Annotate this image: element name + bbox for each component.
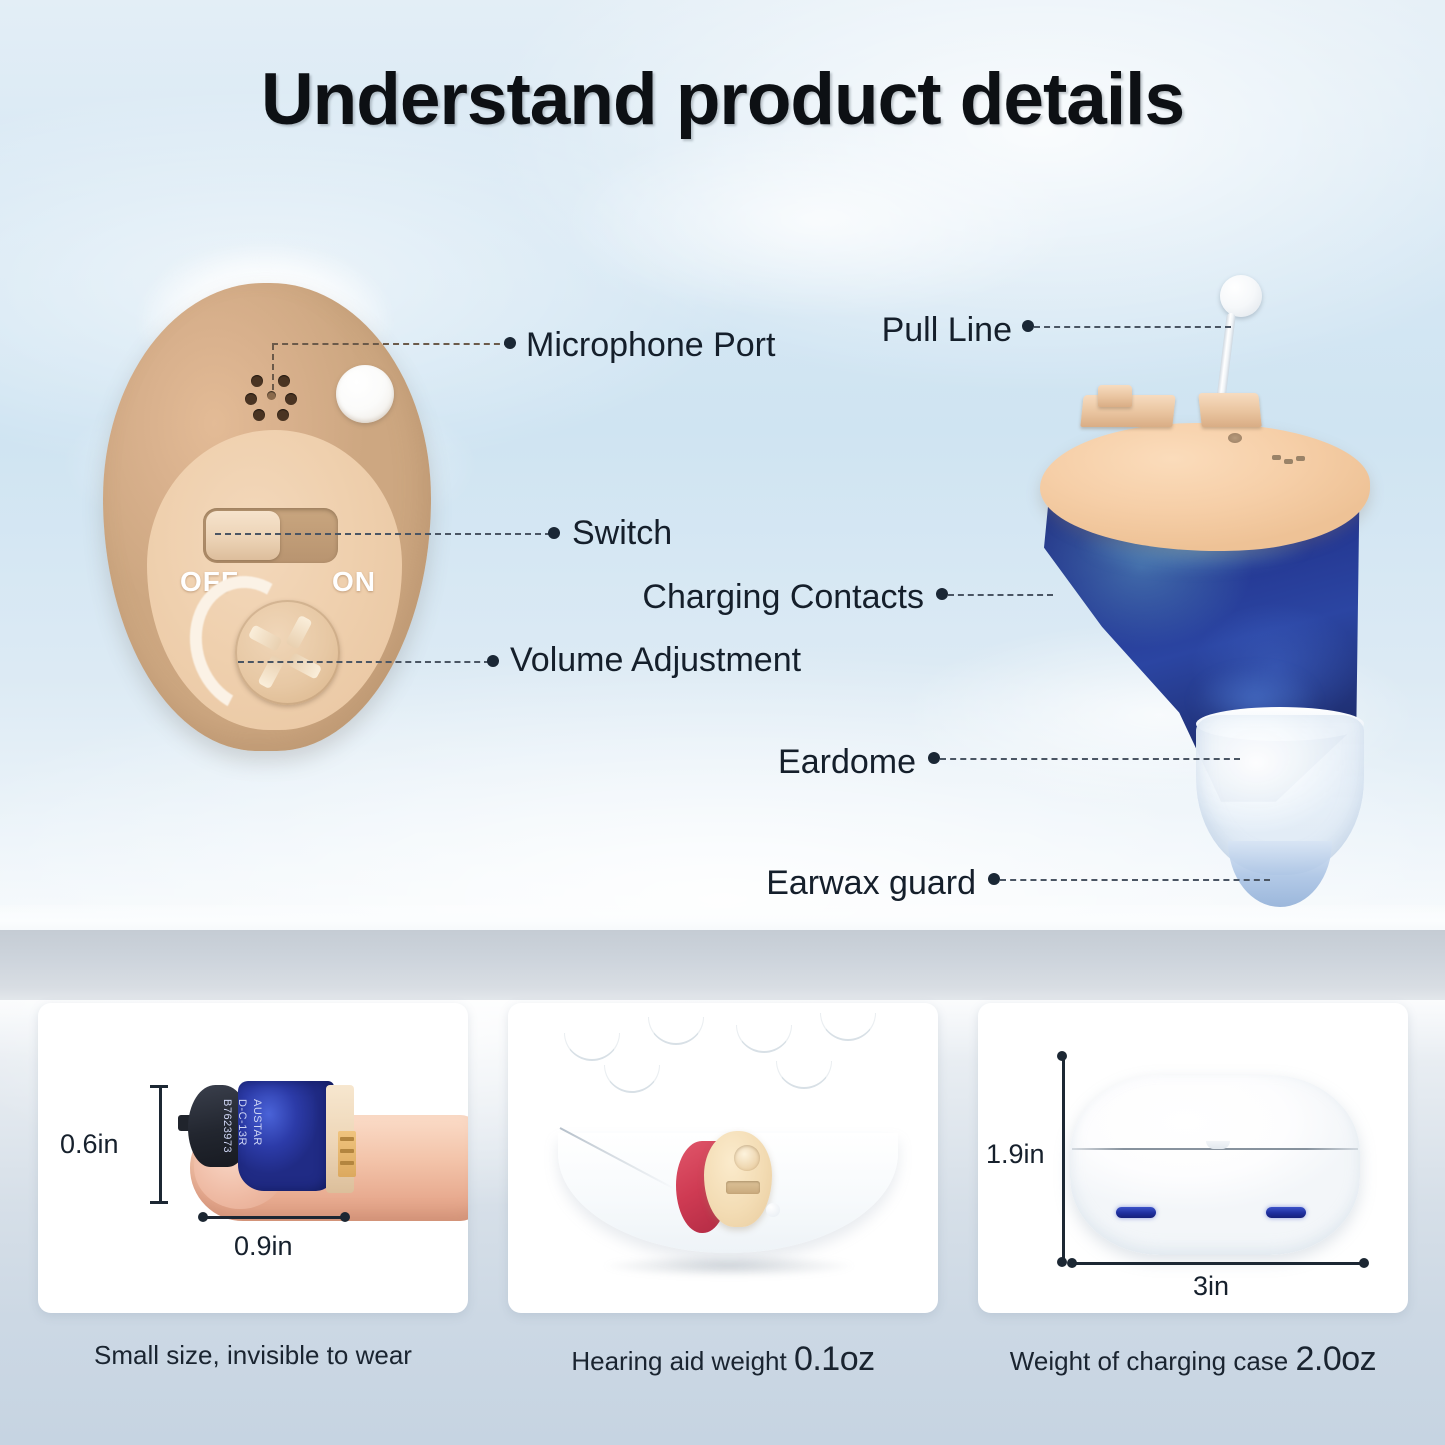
- volume-leader-dot: [487, 655, 499, 667]
- product-marking-line-3: B7623973: [221, 1099, 233, 1153]
- feather-barb: [564, 1033, 620, 1061]
- dimension-cap: [198, 1212, 208, 1222]
- charging-pads: [338, 1131, 356, 1177]
- shelf-edge-band: [0, 930, 1445, 1002]
- width-dimension-line: [1072, 1262, 1364, 1265]
- dimension-cap: [1359, 1258, 1369, 1268]
- callout-eardome: Eardome: [700, 745, 916, 779]
- card-charging-case: 1.9in 3in: [978, 1003, 1408, 1313]
- feather-barb: [736, 1025, 792, 1053]
- page-title: Understand product details: [0, 58, 1445, 141]
- callout-microphone-port: Microphone Port: [526, 328, 775, 362]
- feather-barb: [604, 1065, 660, 1093]
- volume-leader-line: [238, 661, 490, 663]
- dimension-cap: [1067, 1258, 1077, 1268]
- power-switch-control: [203, 508, 338, 563]
- eardome-leader-line: [940, 758, 1240, 760]
- charging-contacts-leader-line: [948, 594, 1053, 596]
- pull-line-ball: [1220, 275, 1262, 317]
- dimension-cap: [1057, 1051, 1067, 1061]
- charging-contacts-leader-dot: [936, 588, 948, 600]
- earwax-guard-leader-line: [1000, 879, 1270, 881]
- feather-barb: [820, 1013, 876, 1041]
- feather-barb: [648, 1017, 704, 1045]
- microphone-leader-dot: [504, 337, 516, 349]
- charging-led-indicator: [1116, 1207, 1156, 1218]
- feather-barb: [776, 1061, 832, 1089]
- product-details-infographic: Understand product details OFF ON: [0, 0, 1445, 1445]
- earwax-guard-leader-dot: [988, 873, 1000, 885]
- charging-contact: [1098, 385, 1132, 407]
- dimension-cap: [150, 1201, 168, 1204]
- charging-case-illustration: [1070, 1075, 1360, 1255]
- product-marking-line-2: D-C-13R: [236, 1099, 248, 1146]
- callout-volume-adjustment: Volume Adjustment: [510, 643, 801, 677]
- status-marking: [1272, 455, 1306, 469]
- switch-leader-dot: [548, 527, 560, 539]
- card-hearing-aid-weight: [508, 1003, 938, 1313]
- feather-shadow: [604, 1255, 854, 1277]
- width-dimension-line: [203, 1216, 346, 1219]
- switch-slot: [726, 1181, 760, 1194]
- callout-earwax-guard: Earwax guard: [660, 866, 976, 900]
- pull-line-leader-line: [1034, 326, 1231, 328]
- hearing-aid-faceplate-illustration: OFF ON: [95, 255, 440, 755]
- card-caption-charging-case: Weight of charging case 2.0oz: [978, 1340, 1408, 1379]
- height-dimension-line: [1062, 1055, 1065, 1261]
- height-dimension-label: 1.9in: [986, 1139, 1045, 1170]
- card-caption-small-size: Small size, invisible to wear: [38, 1340, 468, 1371]
- dimension-cap: [340, 1212, 350, 1222]
- caption-value: 0.1oz: [794, 1340, 875, 1378]
- microphone-leader-vertical: [272, 344, 274, 390]
- microphone-port-icon: [734, 1145, 760, 1171]
- caption-value: 2.0oz: [1296, 1340, 1377, 1378]
- pull-line-leader-dot: [1022, 320, 1034, 332]
- callout-switch: Switch: [572, 516, 672, 550]
- caption-text: Weight of charging case: [1010, 1346, 1288, 1376]
- product-marking: AUSTAR D-C-13R B7623973: [219, 1099, 264, 1153]
- faceplate-button: [336, 365, 394, 423]
- charging-contact: [1198, 393, 1262, 427]
- card-caption-hearing-aid-weight: Hearing aid weight 0.1oz: [508, 1340, 938, 1379]
- caption-text: Small size, invisible to wear: [94, 1340, 412, 1370]
- callout-charging-contacts: Charging Contacts: [600, 580, 924, 614]
- callout-pull-line: Pull Line: [800, 313, 1012, 347]
- faceplate-cap: [1040, 423, 1370, 551]
- dimension-cap: [150, 1085, 168, 1088]
- product-marking-line-1: AUSTAR: [251, 1099, 263, 1146]
- highlight-bead: [766, 1203, 780, 1217]
- volume-adjustment-wheel: [235, 600, 340, 705]
- dimension-cap: [1057, 1257, 1067, 1267]
- card-small-size: AUSTAR D-C-13R B7623973 0.6in 0.9in: [38, 1003, 468, 1313]
- hearing-aid-3d-illustration: [1020, 275, 1390, 895]
- caption-text: Hearing aid weight: [571, 1346, 786, 1376]
- charging-led-indicator: [1266, 1207, 1306, 1218]
- eardome-leader-dot: [928, 752, 940, 764]
- height-dimension-label: 0.6in: [60, 1129, 119, 1160]
- height-dimension-line: [159, 1085, 162, 1201]
- switch-on-label: ON: [332, 566, 376, 598]
- microphone-leader-horizontal: [272, 343, 510, 345]
- width-dimension-label: 0.9in: [234, 1231, 293, 1262]
- pull-line-anchor: [1228, 433, 1242, 443]
- switch-leader-line: [215, 533, 551, 535]
- hearing-aid-body: [704, 1131, 772, 1227]
- switch-knob: [206, 511, 280, 560]
- width-dimension-label: 3in: [1193, 1271, 1229, 1302]
